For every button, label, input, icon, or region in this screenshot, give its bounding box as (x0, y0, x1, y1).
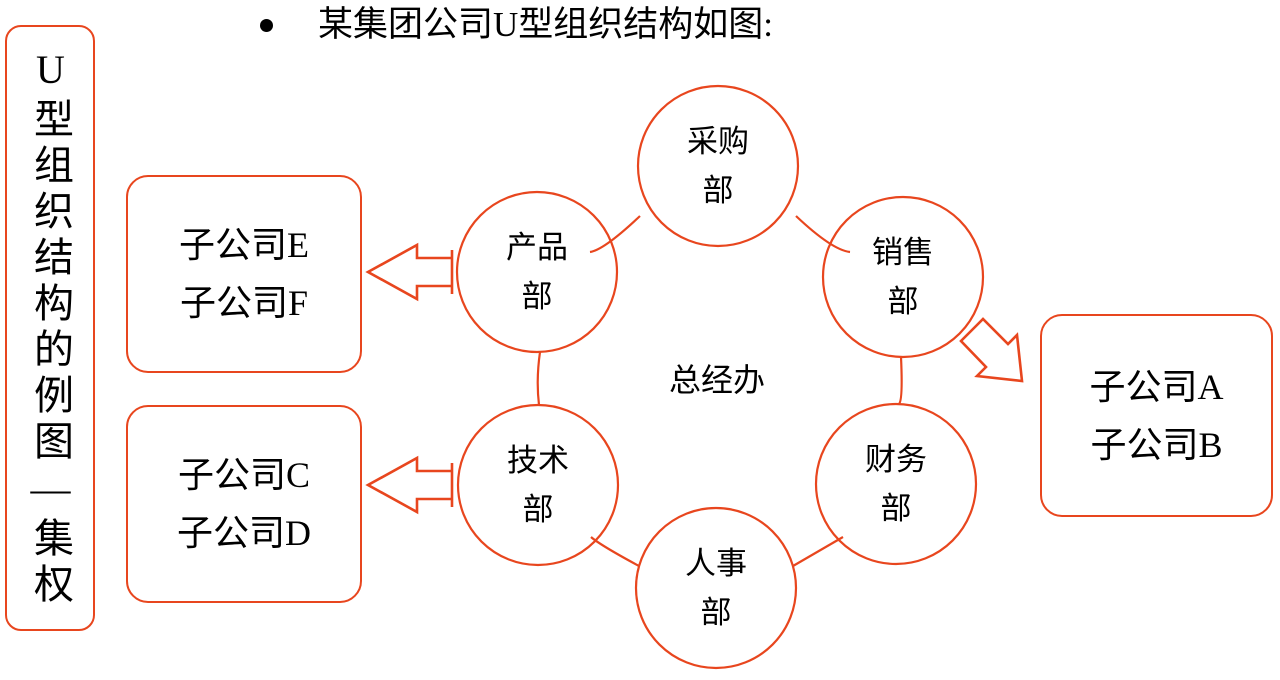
connector-purchasing-sales (796, 216, 850, 252)
node-circle-hr (636, 508, 796, 668)
organization-ring-diagram (0, 0, 1280, 680)
connector-product-technology (538, 352, 540, 405)
node-circle-sales (823, 197, 983, 357)
node-circle-technology (458, 405, 618, 565)
arrow-to-cd-icon (368, 458, 452, 512)
arrow-to-ef-icon (368, 245, 452, 299)
node-circle-finance (816, 404, 976, 564)
connector-purchasing-product (590, 216, 640, 252)
center-label-general-office: 总经办 (617, 362, 817, 398)
slide-canvas: 某集团公司U型组织结构如图: U型组织结构的例图—集权 子公司E 子公司F 子公… (0, 0, 1280, 680)
connector-sales-finance (899, 357, 902, 404)
node-circle-purchasing (638, 86, 798, 246)
connector-finance-hr (793, 537, 843, 566)
connector-hr-technology (591, 537, 639, 566)
node-circle-product (457, 192, 617, 352)
arrow-to-ab-icon (961, 319, 1022, 381)
